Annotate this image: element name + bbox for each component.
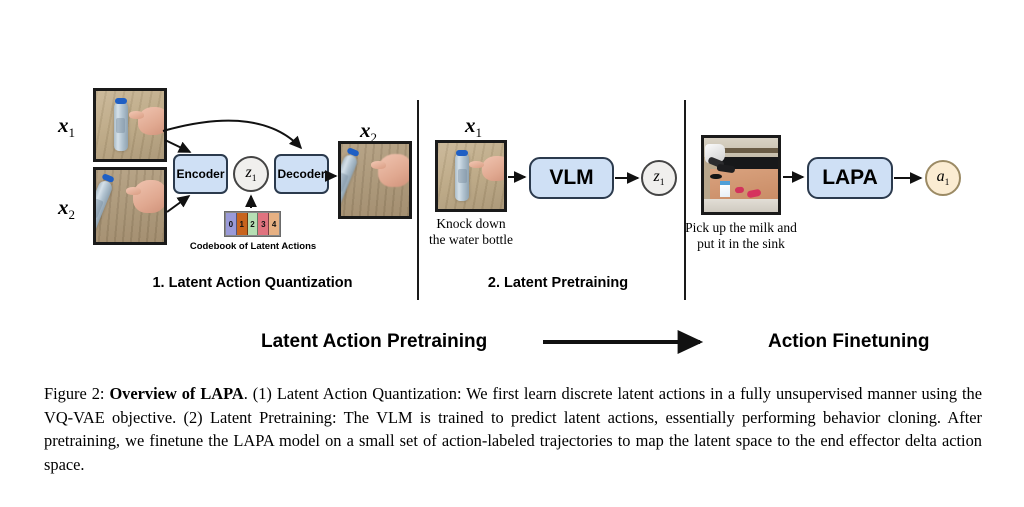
- codebook-caption: Codebook of Latent Actions: [178, 241, 328, 252]
- label-x1-panel2: x1: [465, 113, 482, 141]
- codebook-cell-2: 2: [248, 213, 259, 235]
- panel-divider-2: [684, 100, 686, 300]
- action-a1-circle: a1: [925, 160, 961, 196]
- vlm-box[interactable]: VLM: [529, 157, 614, 199]
- latent-z1-circle-panel2: z1: [641, 160, 677, 196]
- latent-z1-circle-panel1: z1: [233, 156, 269, 192]
- stage-label-finetuning: Action Finetuning: [768, 331, 929, 353]
- panel-title-1: 1. Latent Action Quantization: [110, 275, 395, 291]
- label-x2-panel1: x2: [58, 195, 75, 223]
- codebook-cell-0: 0: [226, 213, 237, 235]
- photo-panel2-bottle: [435, 140, 507, 212]
- lapa-box[interactable]: LAPA: [807, 157, 893, 199]
- codebook-cell-1: 1: [237, 213, 248, 235]
- codebook-cell-4: 4: [269, 213, 279, 235]
- codebook-strip: 01234: [224, 211, 281, 237]
- panel3-instruction: Pick up the milk and put it in the sink: [676, 220, 806, 252]
- photo-panel3-robot-kitchen: [701, 135, 781, 215]
- decoder-box[interactable]: Decoder: [274, 154, 329, 194]
- panel-divider-1: [417, 100, 419, 300]
- photo-x2-reconstructed: [338, 141, 412, 219]
- photo-x1-upright-bottle: [93, 88, 167, 162]
- stage-label-pretraining: Latent Action Pretraining: [261, 331, 487, 353]
- figure-diagram: x1 x2 Encoder z1 Decoder 01234 Codebook: [0, 0, 1024, 372]
- label-x1-panel1: x1: [58, 113, 75, 141]
- caption-prefix: Figure 2:: [44, 384, 104, 403]
- photo-x2-fallen-bottle: [93, 167, 167, 245]
- panel2-instruction: Knock down the water bottle: [413, 216, 529, 248]
- codebook-cell-3: 3: [258, 213, 269, 235]
- panel-title-2: 2. Latent Pretraining: [448, 275, 668, 291]
- figure-caption: Figure 2: Overview of LAPA. (1) Latent A…: [44, 382, 982, 477]
- caption-bold-title: Overview of LAPA: [109, 384, 243, 403]
- encoder-box[interactable]: Encoder: [173, 154, 228, 194]
